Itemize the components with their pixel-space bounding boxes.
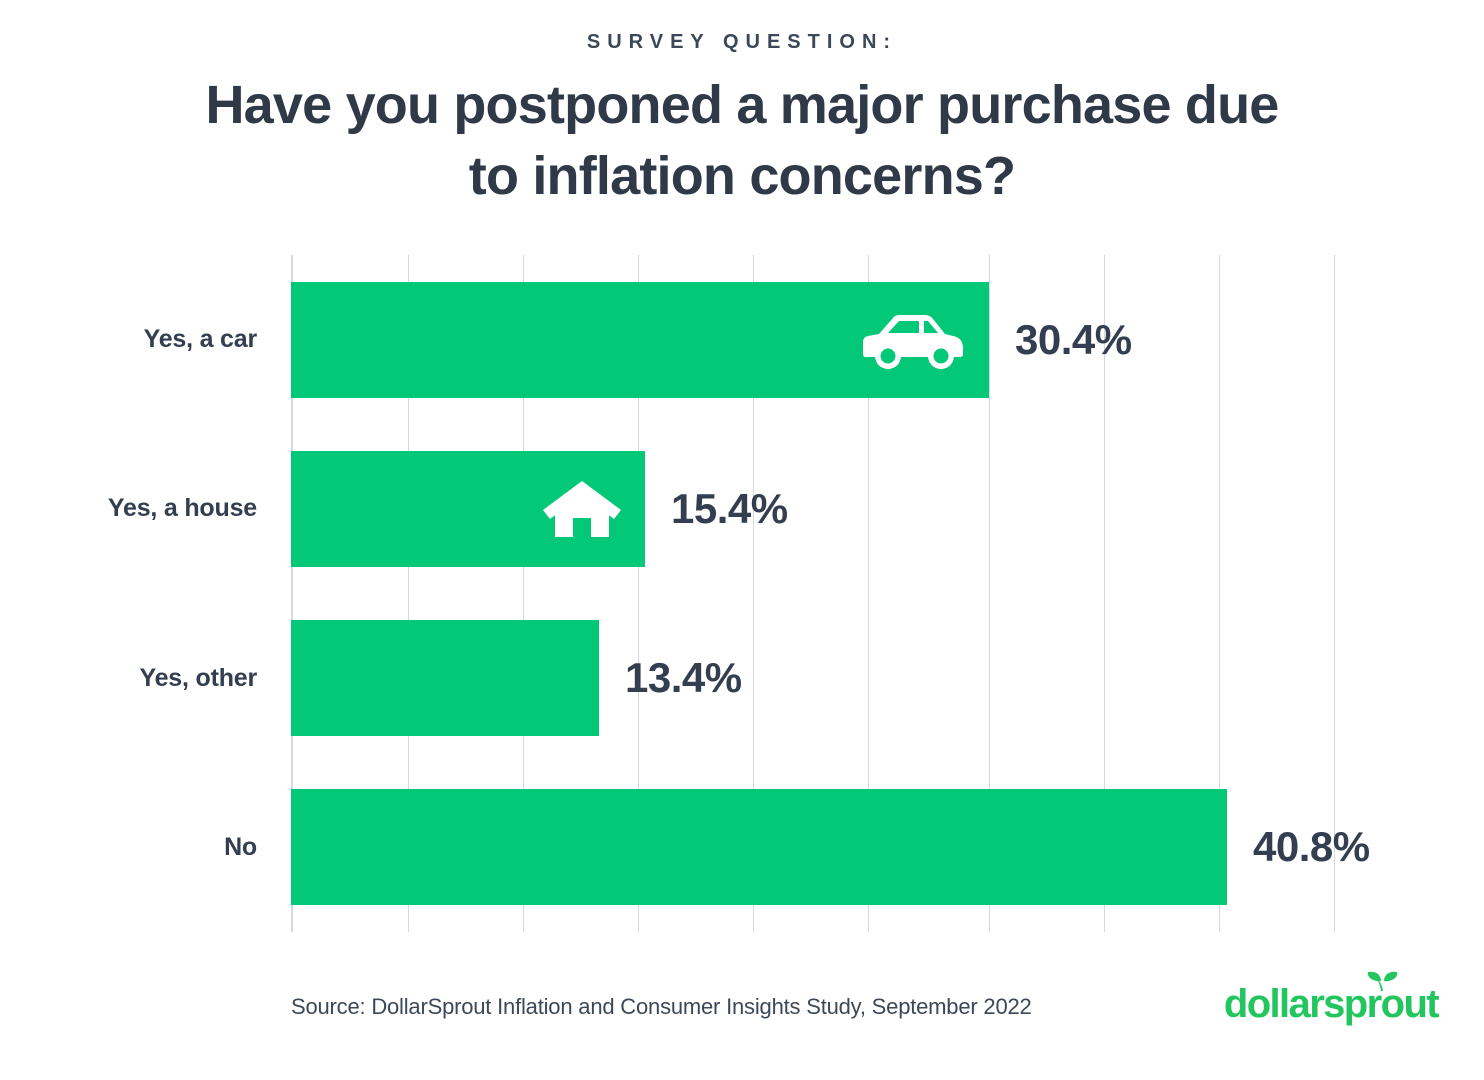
category-label-cell: Yes, a car: [0, 255, 275, 424]
category-label: Yes, other: [140, 664, 258, 693]
eyebrow-label: SURVEY QUESTION:: [0, 30, 1484, 54]
header: SURVEY QUESTION: Have you postponed a ma…: [0, 30, 1484, 213]
category-axis-labels: Yes, a car Yes, a house Yes, other No: [0, 255, 275, 932]
bar-row: 30.4%: [291, 255, 1340, 424]
bar-row: 15.4%: [291, 424, 1340, 593]
category-label: No: [224, 833, 257, 862]
bar-row: 13.4%: [291, 594, 1340, 763]
chart-plot-area: 30.4% 15.4% 13.4%: [291, 255, 1340, 932]
bar-yes-a-house[interactable]: [291, 451, 645, 567]
bar-row: 40.8%: [291, 763, 1340, 932]
category-label-cell: No: [0, 763, 275, 932]
bar-rows: 30.4% 15.4% 13.4%: [291, 255, 1340, 932]
page-title: Have you postponed a major purchase due …: [0, 70, 1484, 213]
bar-no[interactable]: [291, 789, 1227, 905]
infographic-root: SURVEY QUESTION: Have you postponed a ma…: [0, 0, 1484, 1080]
footer: Source: DollarSprout Inflation and Consu…: [0, 980, 1484, 1050]
bar-yes-a-car[interactable]: [291, 282, 989, 398]
bar-yes-other[interactable]: [291, 620, 599, 736]
logo-wordmark: dollarsprout: [1224, 984, 1438, 1024]
source-note: Source: DollarSprout Inflation and Consu…: [291, 994, 1032, 1020]
logo-text-label: dollarsprout: [1224, 982, 1438, 1026]
category-label-cell: Yes, other: [0, 594, 275, 763]
category-label-cell: Yes, a house: [0, 424, 275, 593]
car-icon: [859, 310, 967, 370]
category-label: Yes, a car: [144, 325, 257, 354]
dollarsprout-logo[interactable]: dollarsprout: [1224, 984, 1438, 1024]
bar-value-yes-a-house: 15.4%: [671, 485, 788, 533]
bar-value-yes-a-car: 30.4%: [1015, 316, 1132, 364]
bar-value-no: 40.8%: [1253, 823, 1370, 871]
house-icon: [541, 478, 623, 540]
bar-value-yes-other: 13.4%: [625, 654, 742, 702]
sprout-leaf-icon: [1366, 970, 1400, 992]
category-label: Yes, a house: [108, 494, 257, 523]
